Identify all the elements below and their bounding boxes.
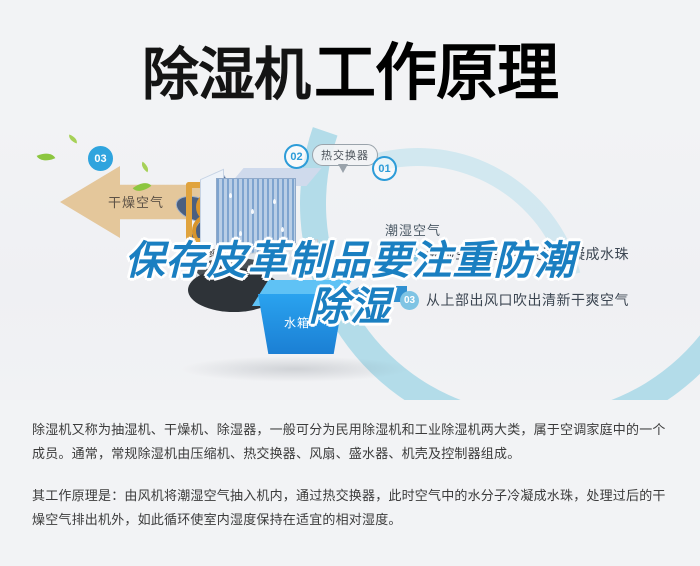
legend-item-03: 03 从上部出风口吹出清新干爽空气 xyxy=(400,290,629,310)
legend-badge-02: 02 xyxy=(400,245,419,264)
leaf-icon xyxy=(139,162,151,173)
legend-text-03: 从上部出风口吹出清新干爽空气 xyxy=(426,290,629,310)
dehumidifier-diagram: 干燥空气 03 xyxy=(0,118,700,400)
water-tank-label: 水箱 xyxy=(284,314,310,331)
compressor-label: 压缩机 xyxy=(196,245,233,260)
callout-tail-icon xyxy=(338,164,348,173)
badge-01: 01 xyxy=(372,156,397,181)
humid-air-label: 潮湿空气 xyxy=(385,220,441,239)
copper-pipe-icon xyxy=(186,182,192,244)
body-paragraph-2: 其工作原理是：由风机将潮湿空气抽入机内，通过热交换器，此时空气中的水分子冷凝成水… xyxy=(32,484,668,532)
page-title-part2: 工作原理 xyxy=(314,39,558,108)
page-title: 除湿机工作原理 xyxy=(0,22,700,112)
dry-air-label: 干燥空气 xyxy=(108,192,164,211)
badge-02: 02 xyxy=(284,144,309,169)
legend-text-02: 潮湿空气经过蒸发器冷凝成水珠 xyxy=(426,244,629,264)
badge-03: 03 xyxy=(88,146,113,171)
leaf-icon xyxy=(67,134,78,143)
infographic-page: 除湿机工作原理 干燥空气 03 xyxy=(0,0,700,566)
machine-shadow xyxy=(180,356,410,382)
leaf-icon xyxy=(37,149,56,165)
body-paragraph-1: 除湿机又称为抽湿机、干燥机、除湿器，一般可分为民用除湿机和工业除湿机两大类，属于… xyxy=(32,418,668,466)
heat-exchanger-callout: 热交换器 xyxy=(312,144,378,166)
page-title-part1: 除湿机 xyxy=(142,43,310,107)
legend-item-02: 02 潮湿空气经过蒸发器冷凝成水珠 xyxy=(400,244,629,264)
legend-badge-03: 03 xyxy=(400,291,419,310)
